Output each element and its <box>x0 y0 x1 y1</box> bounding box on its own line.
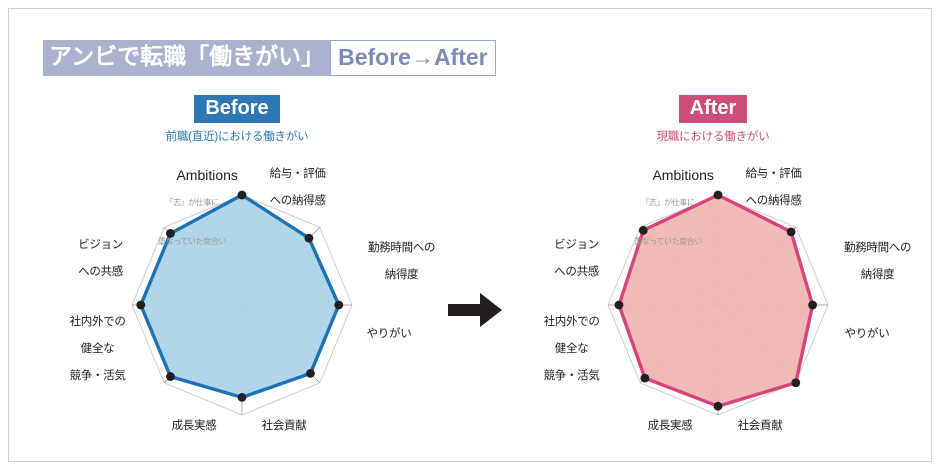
title-badge: アンビで転職「働きがい」 <box>43 40 330 76</box>
axis-label-pay-after: 給与・評価 への納得感 <box>716 154 808 222</box>
arrow-right-icon <box>446 290 504 330</box>
page-frame: アンビで転職「働きがい」 Before→After Before 前職(直近)に… <box>8 8 932 462</box>
axis-label-ambitions-after: Ambitions 「志」が仕事に 重なっていた度合い <box>608 153 728 276</box>
radar-chart-before: Ambitions 「志」が仕事に 重なっていた度合い 給与・評価 への納得感 … <box>27 150 447 460</box>
panel-after: After 現職における働きがい Ambitions 「志」が仕事に 重なってい… <box>503 95 923 455</box>
axis-label-compete-3-a: 競争・活気 <box>544 370 600 382</box>
axis-label-social-before: 社会貢献 <box>242 420 326 434</box>
panel-after-head: After 現職における働きがい <box>503 95 923 144</box>
axis-label-hours-after: 勤務時間への 納得度 <box>814 228 918 296</box>
axis-label-pay-2-a: への納得感 <box>746 195 802 207</box>
title-box: Before→After <box>330 40 496 76</box>
axis-label-vision-1-a: ビジョン <box>554 239 599 251</box>
axis-label-ambitions-text: Ambitions <box>176 167 237 183</box>
axis-label-compete-2: 健全な <box>81 343 115 355</box>
axis-label-vision-2-a: への共感 <box>554 266 599 278</box>
axis-label-compete-before: 社内外での 健全な 競争・活気 <box>37 302 135 397</box>
axis-label-ambitions-text-a: Ambitions <box>652 167 713 183</box>
axis-label-vision-2: への共感 <box>78 266 123 278</box>
axis-label-growth-after: 成長実感 <box>628 420 712 434</box>
axis-label-vision-1: ビジョン <box>78 239 123 251</box>
axis-label-compete-3: 競争・活気 <box>70 370 126 382</box>
axis-label-hours-1: 勤務時間への <box>368 242 435 254</box>
axis-label-social-after: 社会貢献 <box>718 420 802 434</box>
axis-label-compete-1-a: 社内外での <box>544 316 600 328</box>
axis-label-worth-after: やりがい <box>825 328 909 342</box>
axis-label-vision-after: ビジョン への共感 <box>519 225 611 293</box>
axis-label-pay-2: への納得感 <box>270 195 326 207</box>
axis-label-compete-2-a: 健全な <box>555 343 589 355</box>
panel-before-head: Before 前職(直近)における働きがい <box>27 95 447 144</box>
page-title: アンビで転職「働きがい」 Before→After <box>43 40 496 76</box>
axis-label-ambitions-before: Ambitions 「志」が仕事に 重なっていた度合い <box>132 153 252 276</box>
radar-chart-after: Ambitions 「志」が仕事に 重なっていた度合い 給与・評価 への納得感 … <box>503 150 923 460</box>
axis-label-hours-2: 納得度 <box>385 269 419 281</box>
axis-label-pay-1: 給与・評価 <box>270 168 326 180</box>
axis-label-hours-2-a: 納得度 <box>861 269 895 281</box>
axis-label-compete-1: 社内外での <box>70 316 126 328</box>
subtitle-before: 前職(直近)における働きがい <box>27 128 447 144</box>
axis-label-pay-before: 給与・評価 への納得感 <box>240 154 332 222</box>
badge-before: Before <box>194 95 279 123</box>
axis-label-compete-after: 社内外での 健全な 競争・活気 <box>511 302 609 397</box>
badge-after: After <box>679 95 748 123</box>
axis-label-vision-before: ビジョン への共感 <box>43 225 135 293</box>
panel-before: Before 前職(直近)における働きがい Ambitions 「志」が仕事に … <box>27 95 447 455</box>
axis-label-pay-1-a: 給与・評価 <box>746 168 802 180</box>
axis-label-hours-before: 勤務時間への 納得度 <box>338 228 442 296</box>
axis-note-ambitions-1-a: 「志」が仕事に <box>608 198 728 207</box>
axis-label-worth-before: やりがい <box>347 328 431 342</box>
subtitle-after: 現職における働きがい <box>503 128 923 144</box>
axis-note-ambitions-1: 「志」が仕事に <box>132 198 252 207</box>
axis-label-growth-before: 成長実感 <box>152 420 236 434</box>
axis-note-ambitions-2-a: 重なっていた度合い <box>608 237 728 246</box>
axis-note-ambitions-2: 重なっていた度合い <box>132 237 252 246</box>
axis-label-hours-1-a: 勤務時間への <box>844 242 911 254</box>
